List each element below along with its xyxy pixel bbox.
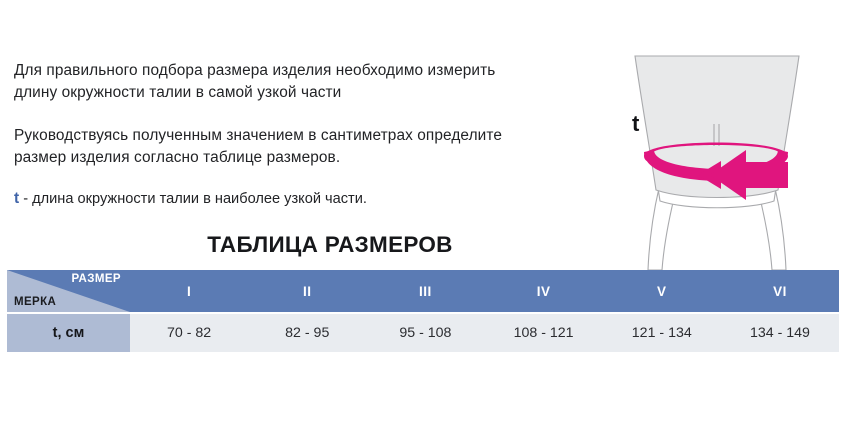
table-corner-cell: РАЗМЕР МЕРКА xyxy=(7,270,130,312)
size-value-5: 121 - 134 xyxy=(603,314,721,352)
table-row: t, см 70 - 82 82 - 95 95 - 108 108 - 121… xyxy=(7,314,839,352)
row-label-cell: t, см xyxy=(7,314,130,352)
size-column-header-6: VI xyxy=(721,270,839,312)
table-header-row: РАЗМЕР МЕРКА I II III IV V VI xyxy=(7,270,839,312)
band-arrow-tail xyxy=(740,162,788,188)
size-value-1: 70 - 82 xyxy=(130,314,248,352)
size-value-6: 134 - 149 xyxy=(721,314,839,352)
corner-measure-label: МЕРКА xyxy=(14,296,56,308)
header-size-columns: I II III IV V VI xyxy=(130,270,839,312)
instruction-paragraph-2: Руководствуясь полученным значением в са… xyxy=(14,125,514,169)
size-value-3: 95 - 108 xyxy=(366,314,484,352)
illustration-measure-label: t xyxy=(632,111,639,137)
corner-size-label: РАЗМЕР xyxy=(72,273,122,285)
size-column-header-5: V xyxy=(603,270,721,312)
instruction-paragraph-1: Для правильного подбора размера изделия … xyxy=(14,60,514,104)
size-column-header-4: IV xyxy=(485,270,603,312)
size-column-header-1: I xyxy=(130,270,248,312)
instructions-block: Для правильного подбора размера изделия … xyxy=(14,60,514,209)
legend-text: - длина окружности талии в наиболее узко… xyxy=(19,191,367,207)
size-column-header-3: III xyxy=(366,270,484,312)
row-label: t, см xyxy=(7,314,130,352)
size-value-4: 108 - 121 xyxy=(485,314,603,352)
legend-line: t - длина окружности талии в наиболее уз… xyxy=(14,189,514,209)
size-chart-page: Для правильного подбора размера изделия … xyxy=(0,0,846,423)
size-column-header-2: II xyxy=(248,270,366,312)
row-value-cells: 70 - 82 82 - 95 95 - 108 108 - 121 121 -… xyxy=(130,314,839,352)
size-table: РАЗМЕР МЕРКА I II III IV V VI t, см 70 -… xyxy=(7,270,839,352)
size-value-2: 82 - 95 xyxy=(248,314,366,352)
page-title: ТАБЛИЦА РАЗМЕРОВ xyxy=(0,232,660,258)
